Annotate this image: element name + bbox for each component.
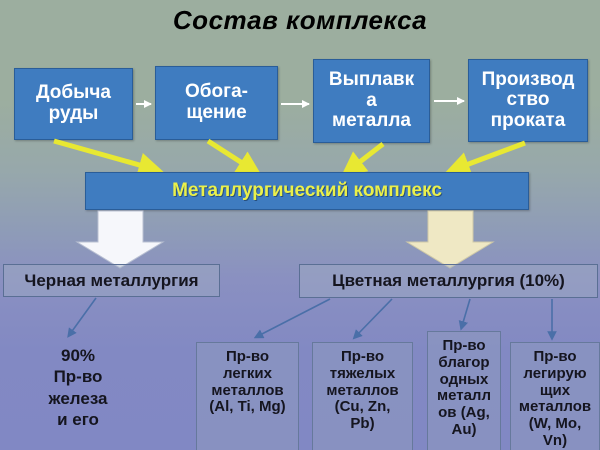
leaf-noble-line-1: Пр-во <box>428 338 500 355</box>
leaf-noble-line-4: металл <box>428 388 500 405</box>
leaf-iron-line-1: 90% <box>18 345 138 366</box>
leaf-iron-line-2: Пр-во <box>18 366 138 387</box>
leaf-heavy-line-4: (Cu, Zn, <box>313 399 412 416</box>
leaf-noble-line-3: одных <box>428 372 500 389</box>
leaf-alloy-line-1: Пр-во <box>511 349 599 366</box>
leaf-light-metals-production[interactable]: Пр-во легких металлов (Al, Ti, Mg) <box>196 342 299 450</box>
leaf-light-line-3: металлов <box>197 383 298 400</box>
leaf-alloy-line-4: металлов <box>511 399 599 416</box>
leaf-alloy-line-3: щих <box>511 383 599 400</box>
leaf-iron-line-3: железа <box>18 388 138 409</box>
leaf-iron-line-4: и его <box>18 409 138 430</box>
leaf-heavy-metals-production[interactable]: Пр-во тяжелых металлов (Cu, Zn, Pb) <box>312 342 413 450</box>
leaf-alloy-line-6: Vn) <box>511 433 599 450</box>
leaf-light-line-1: Пр-во <box>197 349 298 366</box>
leaf-light-line-4: (Al, Ti, Mg) <box>197 399 298 416</box>
leaf-noble-line-2: благор <box>428 355 500 372</box>
leaf-heavy-line-5: Pb) <box>313 416 412 433</box>
leaf-heavy-line-1: Пр-во <box>313 349 412 366</box>
leaf-alloy-line-2: легирую <box>511 366 599 383</box>
leaf-noble-line-5: ов (Ag, <box>428 405 500 422</box>
leaf-noble-metals-production[interactable]: Пр-во благор одных металл ов (Ag, Au) <box>427 331 501 450</box>
slide-canvas: Состав комплекса Добыча руды Обога- щени… <box>0 0 600 450</box>
leaf-heavy-line-2: тяжелых <box>313 366 412 383</box>
leaf-noble-line-6: Au) <box>428 422 500 439</box>
leaf-alloying-metals-production[interactable]: Пр-во легирую щих металлов (W, Mo, Vn) <box>510 342 600 450</box>
leaf-iron-production[interactable]: 90% Пр-во железа и его <box>18 345 138 430</box>
leaf-alloy-line-5: (W, Mo, <box>511 416 599 433</box>
leaf-light-line-2: легких <box>197 366 298 383</box>
leaf-heavy-line-3: металлов <box>313 383 412 400</box>
